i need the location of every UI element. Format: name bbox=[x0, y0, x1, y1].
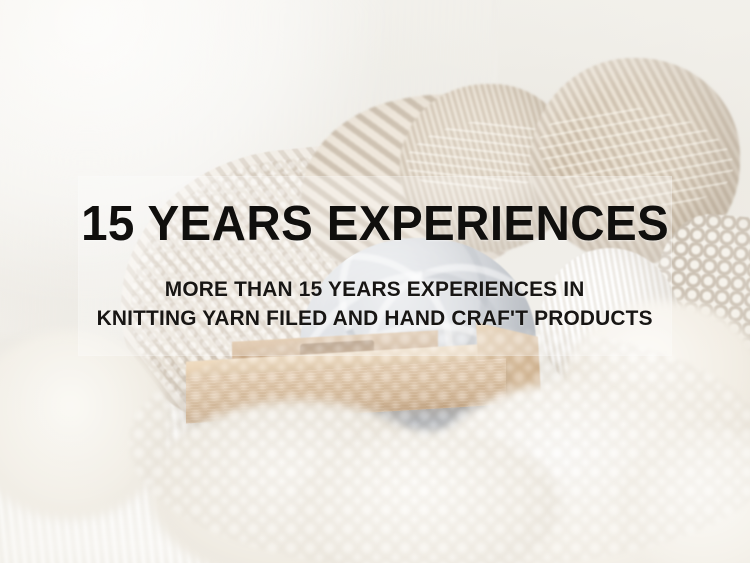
banner-image: 15 YEARS EXPERIENCES MORE THAN 15 YEARS … bbox=[0, 0, 750, 563]
banner-text-block: 15 YEARS EXPERIENCES MORE THAN 15 YEARS … bbox=[0, 176, 750, 356]
banner-subtitle-line-2: KNITTING YARN FILED AND HAND CRAF'T PROD… bbox=[97, 304, 653, 333]
banner-subtitle: MORE THAN 15 YEARS EXPERIENCES IN KNITTI… bbox=[97, 275, 653, 332]
banner-subtitle-line-1: MORE THAN 15 YEARS EXPERIENCES IN bbox=[97, 275, 653, 304]
banner-headline: 15 YEARS EXPERIENCES bbox=[81, 200, 669, 249]
